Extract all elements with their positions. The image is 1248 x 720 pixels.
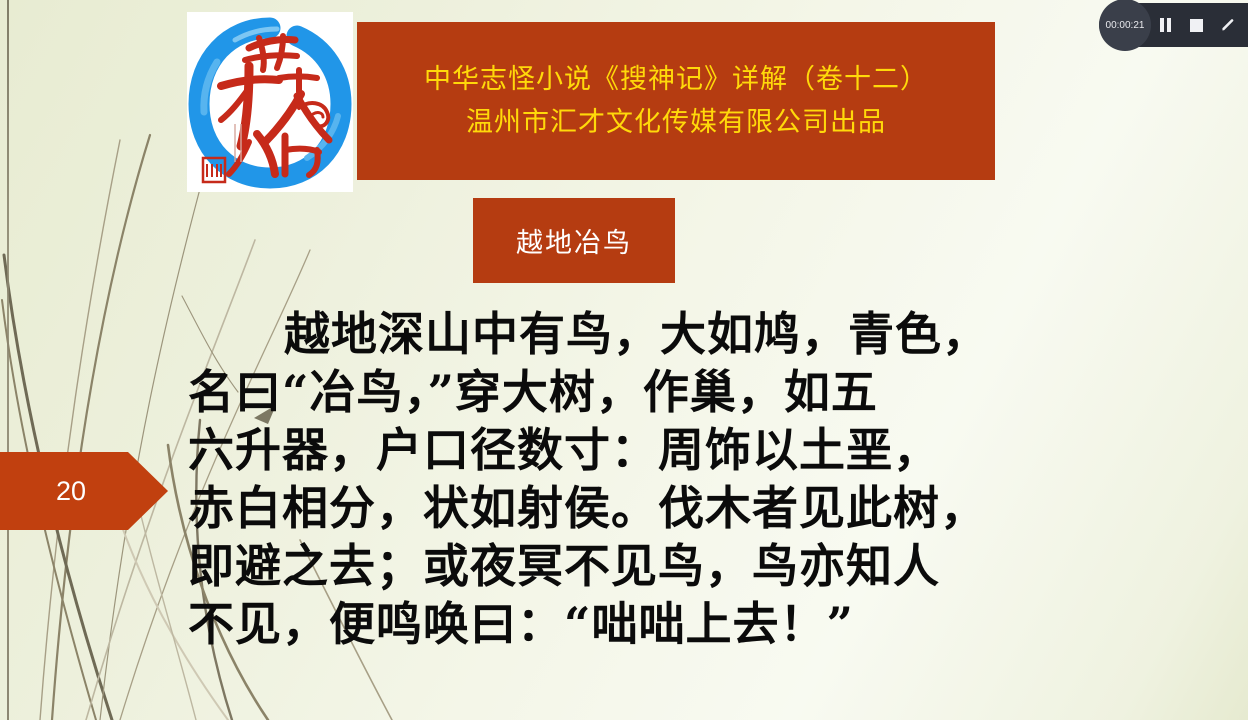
presentation-slide: 中华志怪小说《搜神记》详解（卷十二） 温州市汇才文化传媒有限公司出品 越地冶鸟 … xyxy=(0,0,1248,720)
slide-left-border xyxy=(7,0,9,720)
slide-header-banner: 中华志怪小说《搜神记》详解（卷十二） 温州市汇才文化传媒有限公司出品 xyxy=(357,22,995,180)
page-number-label: 20 xyxy=(56,476,86,507)
body-text-line: 即避之去；或夜冥不见鸟，鸟亦知人 xyxy=(188,537,1000,595)
body-text-line: 不见，便鸣唤曰：“咄咄上去！” xyxy=(188,595,1000,653)
pencil-icon[interactable] xyxy=(1219,17,1236,34)
recorder-controls-bar[interactable]: 00:00:21 xyxy=(1099,3,1248,47)
body-text-line: 六升器，户口径数寸：周饰以土垩， xyxy=(188,421,1000,479)
recording-timer: 00:00:21 xyxy=(1099,0,1151,51)
screen-recorder-toolbar[interactable]: 00:00:21 xyxy=(1099,3,1248,47)
logo-artwork xyxy=(187,12,353,192)
company-logo xyxy=(187,12,353,192)
section-title-label: 越地冶鸟 xyxy=(516,221,632,260)
body-text-line: 赤白相分，状如射侯。伐木者见此树， xyxy=(188,479,1000,537)
page-number-banner: 20 xyxy=(0,452,168,530)
body-text-block: 越地深山中有鸟，大如鸠，青色， 名曰“冶鸟，”穿大树，作巢，如五 六升器，户口径… xyxy=(188,305,1000,653)
body-text-line: 越地深山中有鸟，大如鸠，青色， xyxy=(188,305,1000,363)
section-title-box: 越地冶鸟 xyxy=(473,198,675,283)
recording-timer-label: 00:00:21 xyxy=(1106,20,1145,31)
body-text-line: 名曰“冶鸟，”穿大树，作巢，如五 xyxy=(188,363,1000,421)
header-title-line-1: 中华志怪小说《搜神记》详解（卷十二） xyxy=(424,60,928,99)
header-title-line-2: 温州市汇才文化传媒有限公司出品 xyxy=(466,103,886,142)
stop-icon[interactable] xyxy=(1188,17,1205,34)
pause-icon[interactable] xyxy=(1157,17,1174,34)
